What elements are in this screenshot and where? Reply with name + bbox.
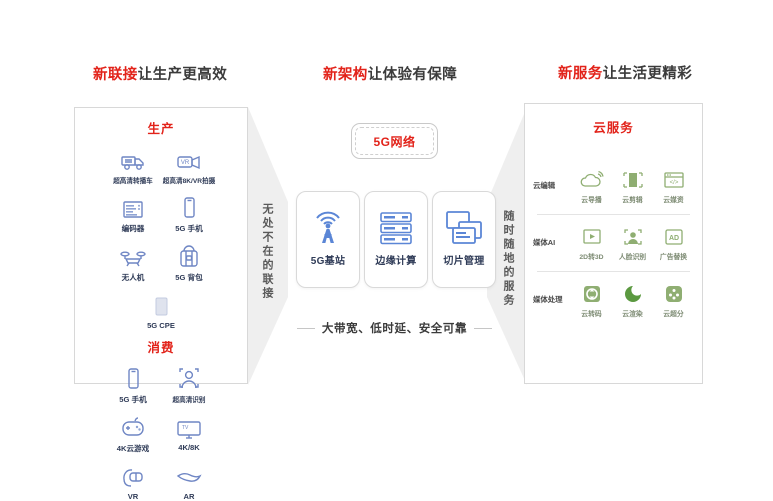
architecture-card-edge-computing[interactable]: 边缘计算 (364, 191, 428, 288)
consumption-item-4k-8k-tv[interactable]: TV 4K/8K (161, 414, 217, 454)
production-item-label: 超高清8K/VR拍摄 (163, 175, 215, 185)
header-middle-accent: 新架构 (323, 67, 368, 83)
face-scan-icon (621, 226, 645, 248)
production-item-5g-phone[interactable]: 5G 手机 (161, 194, 217, 234)
cloud-item-cloud-rendering[interactable]: 云渲染 (613, 283, 653, 318)
cloud-row-items: 云导播 云剪辑 (571, 169, 694, 204)
consumption-item-label: 超高清识别 (173, 394, 206, 404)
production-item-vr-camera[interactable]: VR 超高清8K/VR拍摄 (161, 146, 217, 185)
crop-frame-icon (621, 169, 645, 191)
cloud-item-label: 人脸识别 (619, 251, 646, 261)
header-left-rest: 让生产更高效 (138, 67, 227, 83)
tagline-text: 大带宽、低时延、安全可靠 (322, 320, 467, 336)
cloud-item-label: 云媒资 (663, 194, 683, 204)
svg-text:AD: AD (668, 235, 678, 242)
production-item-broadcast-van[interactable]: 超高清转播车 (105, 146, 161, 185)
header-left: 新联接让生产更高效 (93, 63, 227, 84)
superres-icon (662, 283, 686, 305)
windows-stack-icon (443, 208, 485, 248)
cloud-item-2d-to-3d[interactable]: 2D转3D (572, 226, 612, 261)
consumption-item-label: 5G 手机 (119, 394, 146, 405)
ar-glasses-icon (175, 463, 203, 489)
header-right-accent: 新服务 (558, 66, 603, 82)
production-item-drone[interactable]: 无人机 (105, 243, 161, 283)
architecture-tagline: 大带宽、低时延、安全可靠 (292, 320, 497, 336)
cloud-item-cloud-editing[interactable]: 云剪辑 (613, 169, 653, 204)
broadcast-van-icon (120, 146, 146, 172)
production-item-label: 5G CPE (147, 321, 175, 330)
game-controller-icon (119, 414, 147, 440)
smartphone-icon (120, 365, 146, 391)
poster-canvas: 新联接让生产更高效 新架构让体验有保障 新服务让生活更精彩 生产 (0, 0, 773, 439)
architecture-card-label: 5G基站 (311, 252, 346, 267)
cloud-item-face-recognition[interactable]: 人脸识别 (613, 226, 653, 261)
header-right: 新服务让生活更精彩 (558, 62, 692, 83)
cloud-row-label: 云编辑 (533, 182, 571, 191)
consumption-item-label: 4K/8K (178, 443, 200, 452)
cloud-row-editing: 云编辑 云导播 (525, 158, 702, 214)
production-title: 生产 (75, 118, 247, 137)
transcode-icon (580, 283, 604, 305)
cloud-signal-icon (580, 169, 604, 191)
consumption-icon-grid: 5G 手机 超高清识别 (75, 356, 247, 501)
connector-text-left: 无处不在的联接 (259, 203, 275, 301)
svg-text:VR: VR (181, 160, 190, 166)
consumption-item-ar[interactable]: AR (161, 463, 217, 501)
consumption-title: 消费 (75, 337, 247, 356)
cloud-item-label: 云渲染 (622, 308, 642, 318)
consumption-item-5g-phone[interactable]: 5G 手机 (105, 365, 161, 405)
cloud-item-label: 云导播 (581, 194, 601, 204)
consumption-item-vr[interactable]: VR (105, 463, 161, 501)
vr-camera-icon: VR (176, 146, 202, 172)
consumption-item-uhd-recognition[interactable]: 超高清识别 (161, 365, 217, 405)
cloud-item-cloud-transcoding[interactable]: 云转码 (572, 283, 612, 318)
drone-icon (119, 243, 147, 269)
server-rack-icon (375, 208, 417, 248)
cloud-item-label: 云转码 (581, 308, 601, 318)
architecture-card-label: 切片管理 (443, 252, 484, 267)
cloud-services-panel: 云服务 云编辑 云导播 (524, 103, 703, 384)
network-badge: 5G网络 (351, 123, 438, 159)
cloud-item-label: 2D转3D (579, 251, 603, 261)
production-item-label: 5G 背包 (175, 272, 202, 283)
play-window-icon (580, 226, 604, 248)
svg-text:</>: </> (669, 180, 678, 186)
connector-text-right: 随时随地的服务 (500, 210, 516, 308)
consumption-item-label: 4K云游戏 (117, 443, 150, 454)
consumption-item-label: VR (128, 492, 139, 501)
cloud-item-ad-replacement[interactable]: AD 广告替换 (654, 226, 694, 261)
production-item-5g-backpack[interactable]: 5G 背包 (161, 243, 217, 283)
header-right-rest: 让生活更精彩 (603, 66, 692, 82)
architecture-card-base-station[interactable]: 5G基站 (296, 191, 360, 288)
cloud-row-items: 2D转3D 人脸识别 (571, 226, 694, 261)
cloud-row-media-processing: 媒体处理 云转码 (525, 272, 702, 328)
cloud-item-label: 云剪辑 (622, 194, 642, 204)
cloud-item-label: 云超分 (663, 308, 683, 318)
cloud-services-title: 云服务 (525, 117, 702, 136)
network-badge-label: 5G网络 (355, 127, 434, 155)
backpack-icon (176, 243, 202, 269)
production-item-encoder[interactable]: 编码器 (105, 194, 161, 234)
cloud-item-cloud-super-resolution[interactable]: 云超分 (654, 283, 694, 318)
cloud-row-label: 媒体AI (533, 239, 571, 248)
tagline-rule-right (474, 328, 492, 329)
cloud-row-media-ai: 媒体AI 2D转3D (525, 215, 702, 271)
cpe-icon (148, 292, 174, 318)
svg-text:TV: TV (182, 425, 189, 431)
cloud-item-cloud-media-asset[interactable]: </> 云媒资 (654, 169, 694, 204)
consumption-item-4k-cloud-gaming[interactable]: 4K云游戏 (105, 414, 161, 454)
ad-badge-icon: AD (662, 226, 686, 248)
architecture-card-slice-management[interactable]: 切片管理 (432, 191, 496, 288)
architecture-card-label: 边缘计算 (375, 252, 416, 267)
cloud-row-items: 云转码 云渲染 (571, 283, 694, 318)
tv-icon: TV (175, 414, 203, 440)
cell-tower-icon (308, 208, 348, 248)
face-recognition-icon (176, 365, 202, 391)
production-item-label: 5G 手机 (175, 223, 202, 234)
cloud-row-label: 媒体处理 (533, 296, 571, 305)
consumption-item-label: AR (184, 492, 195, 501)
production-item-label: 超高清转播车 (113, 175, 153, 185)
production-item-label: 无人机 (122, 272, 145, 283)
cloud-item-cloud-director[interactable]: 云导播 (572, 169, 612, 204)
production-consumption-panel: 生产 超高清转播车 (74, 107, 248, 384)
production-icon-grid: 超高清转播车 VR 超高清8K/VR拍摄 (75, 137, 247, 330)
production-item-5g-cpe[interactable]: 5G CPE (133, 292, 189, 330)
vr-headset-icon (119, 463, 147, 489)
tagline-rule-left (297, 328, 315, 329)
smartphone-icon (176, 194, 202, 220)
header-middle: 新架构让体验有保障 (323, 63, 457, 84)
encoder-icon (120, 194, 146, 220)
cloud-item-label: 广告替换 (660, 251, 687, 261)
production-item-label: 编码器 (122, 223, 145, 234)
header-middle-rest: 让体验有保障 (368, 67, 457, 83)
code-window-icon: </> (662, 169, 686, 191)
render-swirl-icon (621, 283, 645, 305)
header-left-accent: 新联接 (93, 67, 138, 83)
